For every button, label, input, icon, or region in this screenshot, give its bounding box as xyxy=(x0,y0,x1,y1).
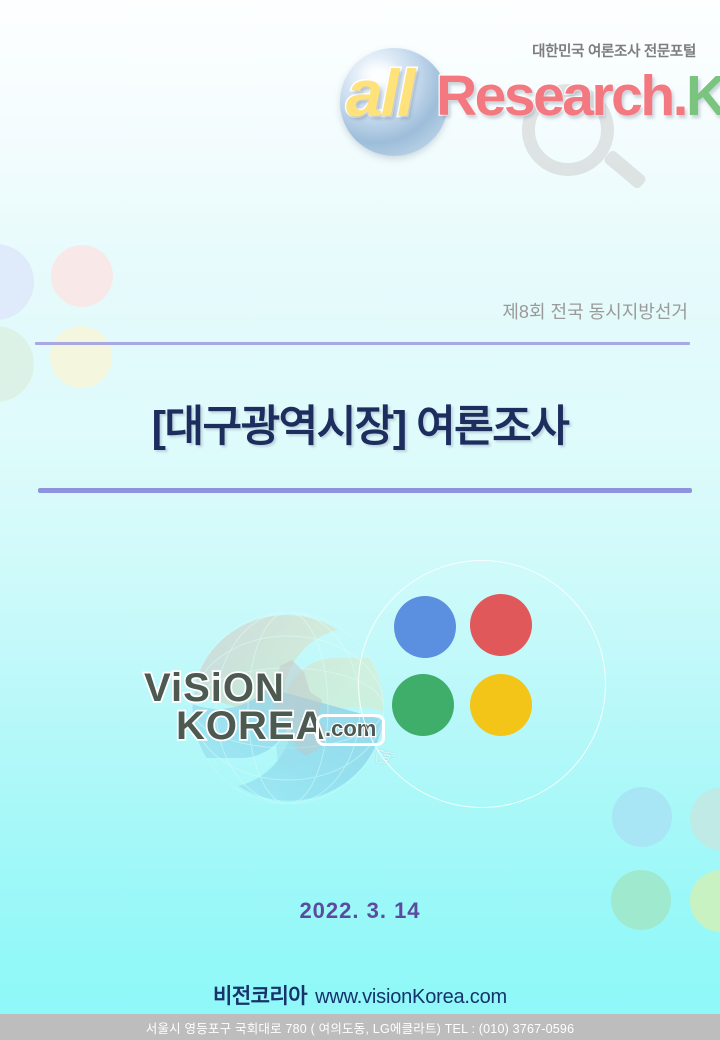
dot-yellow xyxy=(470,674,532,736)
logo-research-text: Research xyxy=(436,64,673,128)
deco-left-green xyxy=(0,326,34,402)
logo-dot-text: . xyxy=(673,64,686,128)
address-text: 서울시 영등포구 국회대로 780 ( 여의도동, LG에클라트) TEL : … xyxy=(146,1018,574,1037)
deco-left-pink xyxy=(51,245,113,307)
visionkorea-line2: KOREA xyxy=(176,706,325,746)
election-subtitle: 제8회 전국 동시지방선거 xyxy=(502,298,688,324)
rule-bottom-divider xyxy=(38,488,692,493)
visionkorea-logo: ViSiON KOREA .com ☞ xyxy=(134,668,394,760)
rule-top-divider xyxy=(35,342,690,345)
logo-tagline: 대한민국 여론조사 전문포털 xyxy=(532,40,696,61)
page-title: [대구광역시장] 여론조사 xyxy=(0,392,720,454)
survey-date: 2022. 3. 14 xyxy=(0,898,720,924)
logo-word-all: all xyxy=(346,60,413,126)
allresearch-logo: 대한민국 여론조사 전문포털 all Research.KR xyxy=(322,26,702,176)
deco-left-yellow xyxy=(50,326,112,388)
logo-word-research: Research.KR xyxy=(436,68,720,125)
brand-website-url[interactable]: www.visionKorea.com xyxy=(315,986,507,1008)
dot-green xyxy=(392,674,454,736)
dot-red xyxy=(470,594,532,656)
deco-right-cyan xyxy=(612,787,672,847)
deco-left-blue xyxy=(0,244,34,320)
logo-kr-text: KR xyxy=(686,64,720,128)
address-bar: 서울시 영등포구 국회대로 780 ( 여의도동, LG에클라트) TEL : … xyxy=(0,1014,720,1040)
deco-right-teal xyxy=(690,788,720,850)
visionkorea-line1: ViSiON xyxy=(144,668,285,708)
center-graphic: ViSiON KOREA .com ☞ xyxy=(130,550,590,830)
magnifier-handle-icon xyxy=(603,149,648,190)
brand-name-ko: 비전코리아 xyxy=(213,985,307,1008)
dot-blue xyxy=(394,596,456,658)
brand-line: 비전코리아www.visionKorea.com xyxy=(0,980,720,1010)
cover-page: 대한민국 여론조사 전문포털 all Research.KR 제8회 전국 동시… xyxy=(0,0,720,1040)
